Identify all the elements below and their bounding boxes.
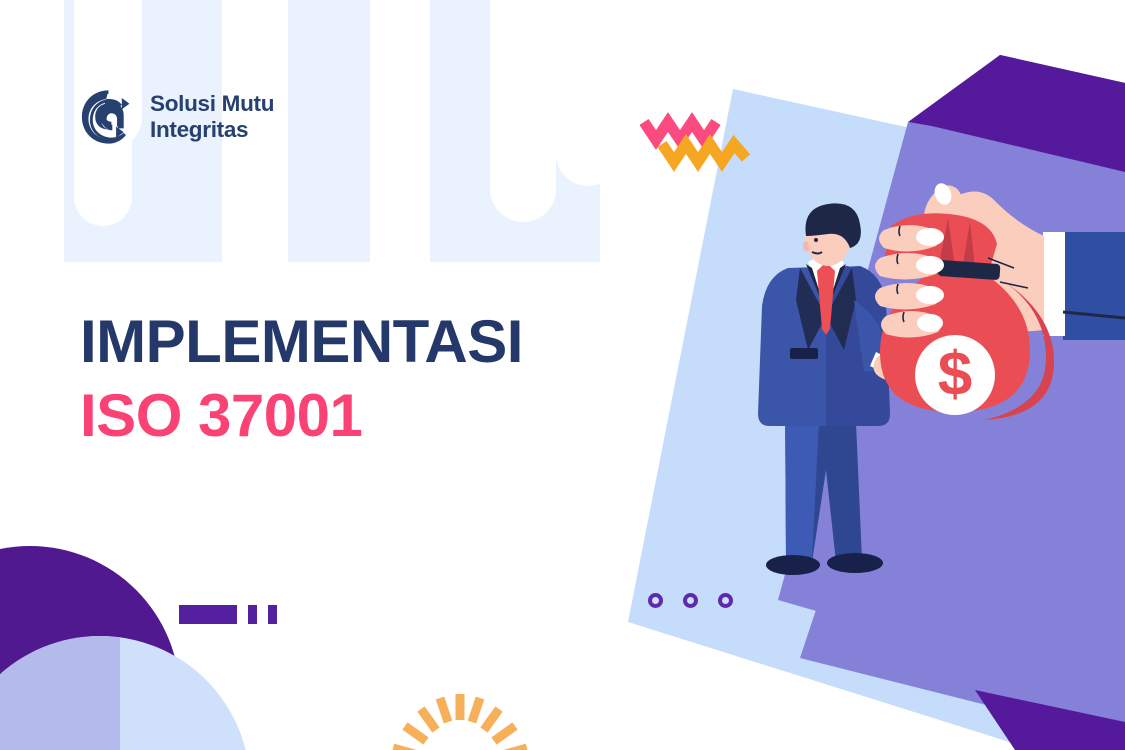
white-drip-column-6 bbox=[490, 0, 556, 222]
businessman-cuff bbox=[870, 352, 892, 374]
sunburst-decoration bbox=[362, 672, 558, 750]
money-symbol: $ bbox=[938, 340, 972, 409]
giant-knuckle-line-1 bbox=[899, 226, 900, 236]
illus-periwinkle-card bbox=[800, 55, 1125, 740]
businessman-trousers bbox=[785, 400, 862, 562]
ring-dot-icon-2 bbox=[683, 593, 698, 608]
ring-dot-icon-3 bbox=[718, 593, 733, 608]
poster-canvas: $ bbox=[0, 0, 1125, 750]
businessman-pocket bbox=[790, 348, 818, 359]
giant-knuckle-line-4 bbox=[903, 312, 904, 322]
businessman-lapel-shape-r bbox=[826, 268, 856, 350]
sunburst-rays-icon bbox=[393, 694, 527, 750]
white-drip-column-1 bbox=[0, 0, 64, 296]
white-drip-column-7 bbox=[556, 0, 620, 186]
giant-fingers bbox=[875, 225, 944, 338]
zigzag-orange-icon bbox=[662, 144, 746, 162]
bag-string-1 bbox=[988, 258, 1014, 268]
dash-tick-icon-2 bbox=[268, 605, 277, 624]
businessman-jacket bbox=[758, 266, 878, 426]
dash-accent-decoration bbox=[179, 605, 277, 624]
illus-periwinkle-card-2 bbox=[778, 122, 1125, 700]
illus-blue-card bbox=[628, 89, 1125, 750]
businessman-lapel-right bbox=[826, 264, 846, 312]
money-bag-tie-band bbox=[938, 260, 1001, 280]
businessman-jacket-shade bbox=[826, 266, 890, 426]
giant-hand-with-money-bag: $ bbox=[875, 181, 1125, 420]
solusi-mutu-swirl-logo-icon bbox=[80, 88, 137, 146]
money-bag-fold-2 bbox=[962, 222, 976, 276]
illus-dark-purple-wedge bbox=[915, 55, 1125, 172]
dash-tick-icon-1 bbox=[248, 605, 257, 624]
money-bag-shadow bbox=[984, 280, 1054, 420]
giant-finger-nail-1 bbox=[916, 228, 944, 246]
businessman-lapel-left bbox=[806, 264, 826, 312]
ring-dot-icon-1 bbox=[648, 593, 663, 608]
giant-finger-nail-4 bbox=[917, 314, 943, 332]
businessman-lapel-shape-l bbox=[796, 268, 826, 350]
businessman-mouth bbox=[812, 252, 822, 254]
businessman-trouser-left bbox=[785, 400, 820, 562]
zigzag-pink-icon bbox=[644, 122, 716, 140]
dot-row-decoration bbox=[648, 593, 733, 608]
businessman-shoe-right bbox=[827, 553, 883, 573]
businessman-tie bbox=[817, 262, 835, 335]
businessman-shirt bbox=[808, 256, 844, 310]
businessman-hair bbox=[805, 203, 860, 248]
illus-dark-purple-wedge-top bbox=[908, 55, 1125, 160]
businessman-head bbox=[806, 214, 850, 266]
money-bag-body bbox=[880, 268, 1030, 412]
giant-sleeve-line bbox=[1063, 312, 1125, 318]
giant-hand-palm bbox=[927, 191, 1044, 331]
giant-thumb-nail bbox=[932, 181, 955, 207]
giant-knuckle-line-3 bbox=[897, 284, 898, 294]
headline-block: IMPLEMENTASI ISO 37001 bbox=[80, 312, 523, 446]
businessman-neck bbox=[818, 238, 836, 260]
money-symbol-circle bbox=[915, 335, 995, 415]
brand-logo[interactable]: Solusi Mutu Integritas bbox=[80, 88, 274, 146]
illus-dark-purple-band bbox=[975, 690, 1125, 750]
businessman-figure bbox=[758, 203, 906, 575]
businessman-eye bbox=[814, 238, 818, 242]
giant-finger-1 bbox=[879, 225, 940, 252]
businessman-shoe-left bbox=[766, 555, 820, 575]
giant-thumb bbox=[924, 185, 962, 228]
dash-bar-icon bbox=[179, 605, 237, 624]
money-bag-fold-1 bbox=[938, 218, 956, 274]
brand-logo-text: Solusi Mutu Integritas bbox=[150, 91, 274, 142]
giant-finger-2 bbox=[875, 253, 940, 280]
headline-primary: IMPLEMENTASI bbox=[80, 312, 523, 372]
businessman-ear bbox=[803, 242, 809, 252]
giant-finger-nail-2 bbox=[916, 256, 944, 274]
giant-finger-nail-3 bbox=[916, 286, 944, 304]
giant-cuff bbox=[1043, 232, 1065, 336]
giant-sleeve bbox=[1063, 232, 1125, 340]
headline-secondary: ISO 37001 bbox=[80, 386, 523, 446]
businessman-arm bbox=[854, 300, 888, 372]
giant-finger-4 bbox=[881, 311, 942, 338]
money-bag-neck bbox=[885, 213, 997, 278]
giant-knuckle-line-2 bbox=[897, 254, 898, 264]
businessman-eyebrow bbox=[812, 231, 826, 233]
giant-finger-3 bbox=[875, 283, 940, 310]
zigzag-decoration bbox=[640, 112, 770, 174]
businessman-hand bbox=[873, 355, 906, 380]
bag-string-2 bbox=[1000, 282, 1028, 288]
